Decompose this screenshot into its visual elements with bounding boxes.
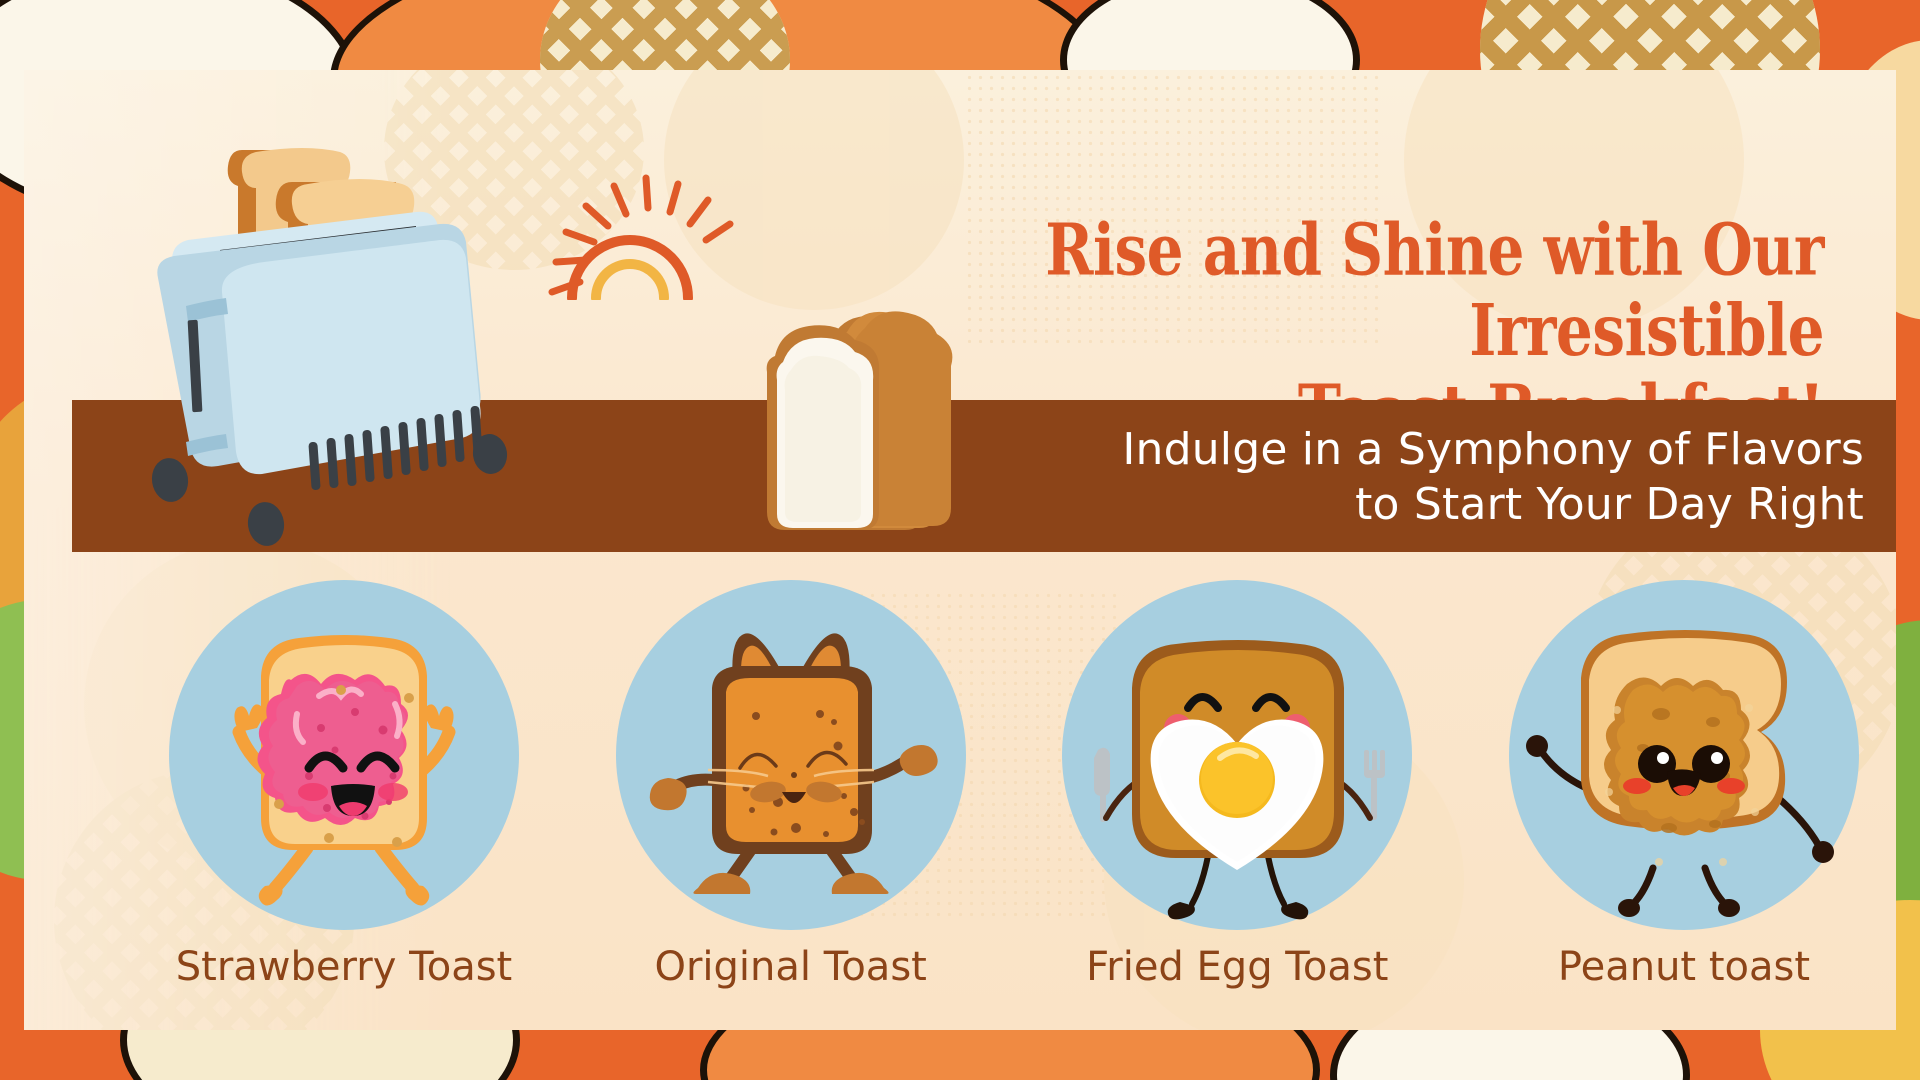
product-label: Fried Egg Toast — [1086, 944, 1388, 990]
product-list: Strawberry Toast — [164, 580, 1864, 1000]
toaster-illustration — [124, 142, 544, 562]
subtitle-line-2: to Start Your Day Right — [1044, 477, 1864, 532]
sliced-bread-loaf-illustration — [739, 310, 979, 535]
strawberry-toast-character — [169, 580, 519, 930]
subtitle-line-1: Indulge in a Symphony of Flavors — [1044, 422, 1864, 477]
product-item[interactable]: Peanut toast — [1504, 580, 1864, 990]
product-item[interactable]: Original Toast — [611, 580, 971, 990]
peanut-toast-character — [1509, 580, 1859, 930]
original-toast-character — [616, 580, 966, 930]
product-image-disc — [1509, 580, 1859, 930]
product-image-disc — [1062, 580, 1412, 930]
product-image-disc — [616, 580, 966, 930]
product-image-disc — [169, 580, 519, 930]
fried-egg-toast-character — [1062, 580, 1412, 930]
product-label: Original Toast — [654, 944, 926, 990]
product-label: Strawberry Toast — [176, 944, 512, 990]
product-label: Peanut toast — [1558, 944, 1810, 990]
subtitle: Indulge in a Symphony of Flavors to Star… — [1044, 422, 1864, 533]
poster-card: Rise and Shine with Our Irresistible Toa… — [24, 70, 1896, 1030]
product-item[interactable]: Strawberry Toast — [164, 580, 524, 990]
sunrise-rays-icon — [544, 170, 754, 300]
product-item[interactable]: Fried Egg Toast — [1057, 580, 1417, 990]
headline-line-1: Rise and Shine with Our Irresistible — [1045, 209, 1824, 373]
